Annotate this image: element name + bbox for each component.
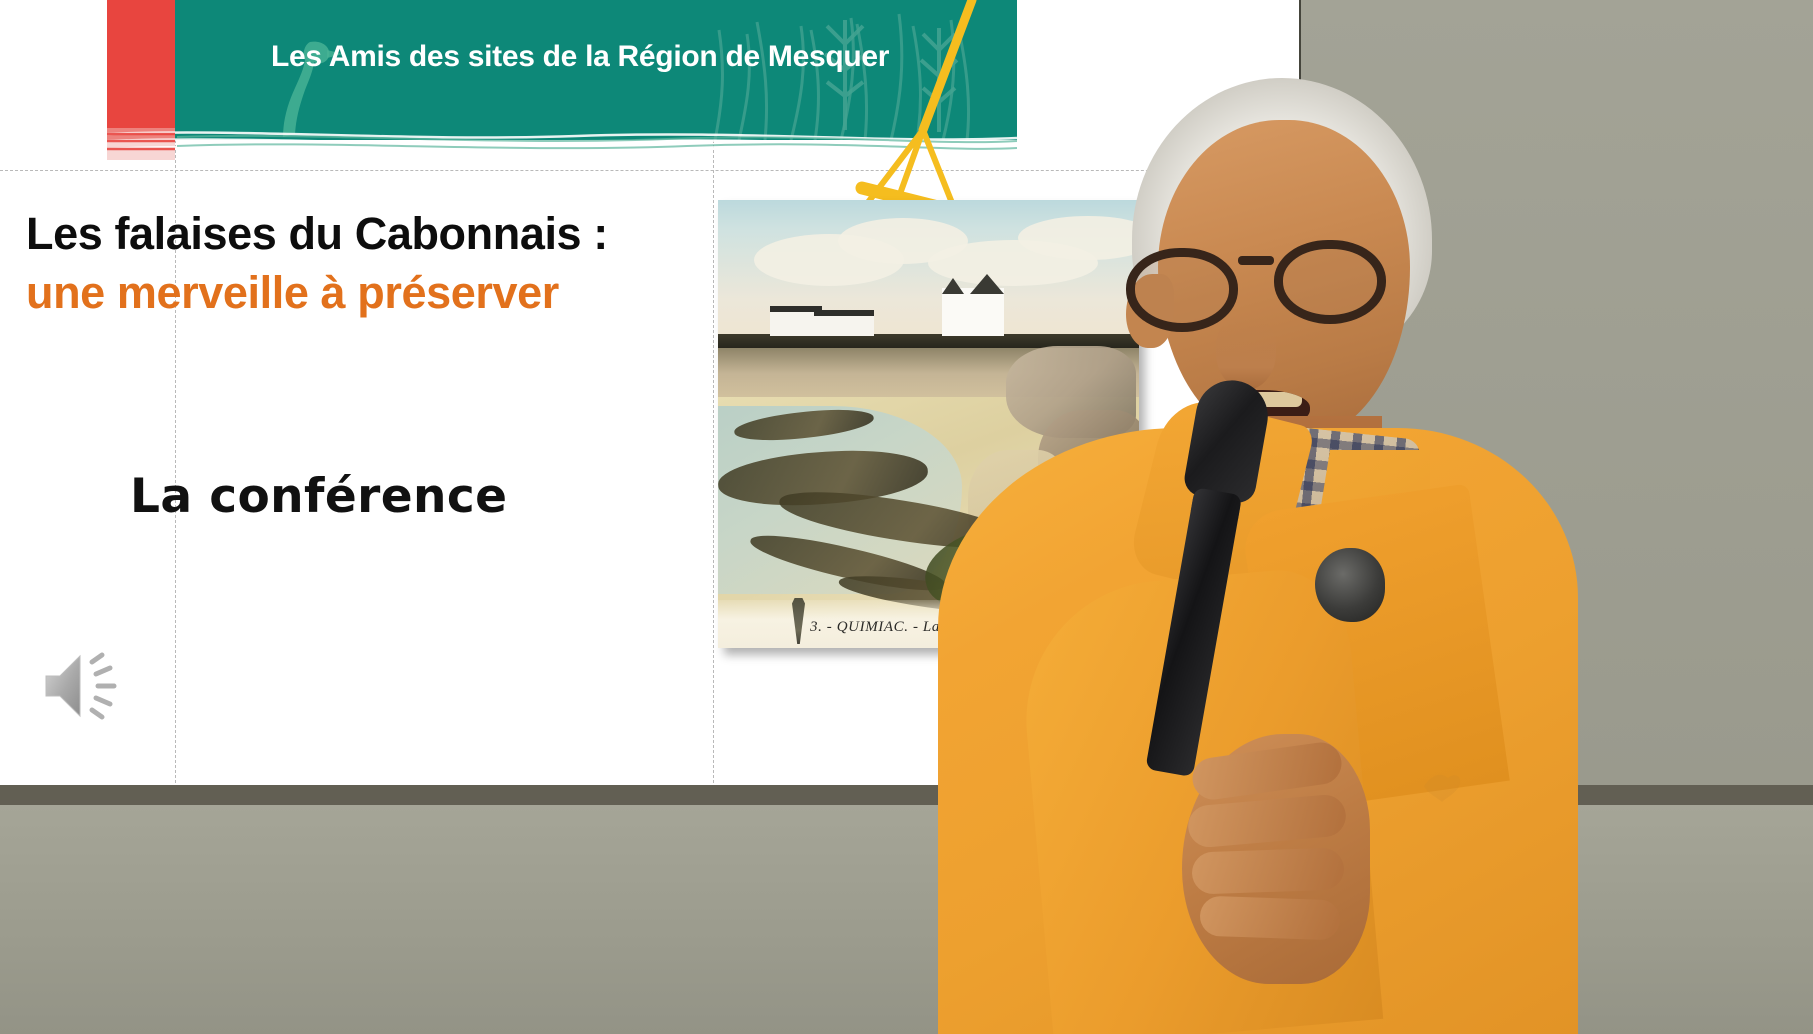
postcard-house bbox=[814, 310, 874, 336]
water-waves-icon bbox=[107, 128, 1017, 160]
presenter-finger bbox=[1199, 896, 1340, 941]
banner-title: Les Amis des sites de la Région de Mesqu… bbox=[271, 40, 1011, 74]
banner-red-bar bbox=[107, 0, 175, 140]
lavalier-windscreen-icon bbox=[1315, 548, 1385, 622]
eyeglasses-icon bbox=[1126, 230, 1426, 326]
eyeglass-bridge bbox=[1238, 256, 1274, 265]
slide-subtitle: La conférence bbox=[130, 469, 507, 524]
sweater-embroidery-icon bbox=[1420, 768, 1464, 804]
eyeglass-lens-right bbox=[1274, 240, 1386, 324]
association-banner: Les Amis des sites de la Région de Mesqu… bbox=[107, 0, 1017, 160]
presenter bbox=[930, 78, 1813, 1034]
slide-title-line-2: une merveille à préserver bbox=[26, 267, 559, 319]
speaker-sound-icon[interactable] bbox=[40, 648, 126, 724]
video-frame: Les Amis des sites de la Région de Mesqu… bbox=[0, 0, 1813, 1034]
banner-teal-panel: Les Amis des sites de la Région de Mesqu… bbox=[175, 0, 1017, 140]
slide-title-line-1: Les falaises du Cabonnais : bbox=[26, 208, 608, 260]
presenter-finger bbox=[1191, 847, 1344, 894]
eyeglass-lens-left bbox=[1126, 248, 1238, 332]
